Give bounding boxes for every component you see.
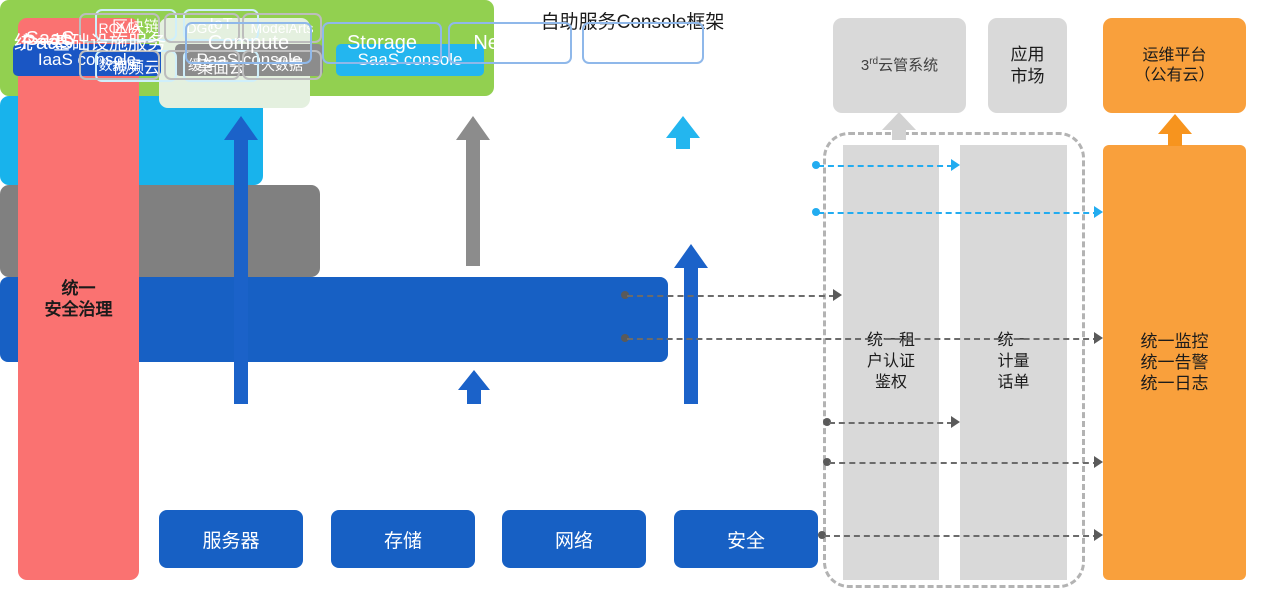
arrowhead-infra-to-ops bbox=[1094, 456, 1103, 468]
ops-panel-line2: 统一告警 bbox=[1141, 352, 1209, 373]
auth-line3: 鉴权 bbox=[867, 373, 915, 394]
arrowhead-resource-to-ops bbox=[1094, 529, 1103, 541]
ops-panel-line3: 统一日志 bbox=[1141, 373, 1209, 394]
dashed-link-saas-to-auth bbox=[818, 165, 953, 167]
unified-ops-panel: 统一监控 统一告警 统一日志 bbox=[1103, 145, 1246, 580]
architecture-diagram: 统一 安全治理 API网关 自助服务Console框架 IaaS console… bbox=[0, 0, 1265, 605]
resource-box-server[interactable]: 服务器 bbox=[159, 510, 303, 568]
infrastructure-label: 统一基础设施服务 bbox=[14, 28, 166, 55]
metering-line3: 话单 bbox=[997, 373, 1029, 394]
dashed-link-paas-to-ops bbox=[627, 338, 1099, 340]
third-cloud-suffix: 云管系统 bbox=[878, 57, 938, 74]
resource-box-storage[interactable]: 存储 bbox=[331, 510, 475, 568]
arrowhead-saas-to-auth bbox=[951, 159, 960, 171]
resource-box-network[interactable]: 网络 bbox=[502, 510, 646, 568]
infra-chip-compute[interactable]: Compute bbox=[185, 22, 312, 64]
infra-chip-storage[interactable]: Storage bbox=[322, 22, 442, 64]
arrow-infra-to-paas bbox=[458, 370, 490, 404]
dashed-link-saas-to-ops bbox=[818, 212, 1099, 214]
dashed-link-infra-to-auth bbox=[829, 422, 953, 424]
ops-platform-line1: 运维平台 bbox=[1134, 46, 1214, 66]
arrow-saas-to-console bbox=[666, 116, 700, 149]
ops-panel-line1: 统一监控 bbox=[1141, 331, 1209, 352]
third-cloud-text: 3rd云管系统 bbox=[861, 56, 938, 76]
arrowhead-paas-to-ops bbox=[1094, 332, 1103, 344]
arrowhead-saas-to-ops bbox=[1094, 206, 1103, 218]
ops-platform-public-cloud-box: 运维平台 （公有云） bbox=[1103, 18, 1246, 113]
infra-chip-cce[interactable]: CCE bbox=[582, 22, 704, 64]
resource-box-security[interactable]: 安全 bbox=[674, 510, 818, 568]
dashed-link-infra-to-ops bbox=[829, 462, 1099, 464]
third-cloud-prefix: 3 bbox=[861, 57, 869, 74]
arrowhead-paas-to-auth bbox=[833, 289, 842, 301]
security-governance-line2: 安全治理 bbox=[45, 299, 113, 320]
third-cloud-sup: rd bbox=[869, 56, 878, 67]
unified-tenant-auth-column: 统一租 户认证 鉴权 bbox=[843, 145, 939, 580]
unified-metering-billing-column: 统一 计量 话单 bbox=[960, 145, 1067, 580]
security-governance-panel: 统一 安全治理 bbox=[18, 18, 139, 580]
metering-line2: 计量 bbox=[997, 352, 1029, 373]
arrow-infra-to-api-gateway bbox=[224, 116, 258, 404]
dashed-link-resource-to-ops bbox=[824, 535, 1099, 537]
app-market-line2: 市场 bbox=[1011, 66, 1045, 87]
arrow-to-ops-platform bbox=[1158, 114, 1192, 146]
infra-chip-network[interactable]: Network bbox=[448, 22, 572, 64]
arrowhead-infra-to-auth bbox=[951, 416, 960, 428]
auth-line2: 户认证 bbox=[867, 352, 915, 373]
arrow-to-third-cloud bbox=[882, 112, 916, 140]
arrow-paas-to-console bbox=[456, 116, 490, 266]
security-governance-line1: 统一 bbox=[45, 278, 113, 299]
app-market-line1: 应用 bbox=[1011, 44, 1045, 65]
auth-line1: 统一租 bbox=[867, 331, 915, 352]
metering-line1: 统一 bbox=[997, 331, 1029, 352]
ops-platform-line2: （公有云） bbox=[1134, 66, 1214, 86]
dashed-link-paas-to-auth bbox=[627, 295, 835, 297]
third-party-cloud-management-box: 3rd云管系统 bbox=[833, 18, 966, 113]
arrow-infra-to-saas bbox=[674, 244, 708, 404]
app-market-box: 应用 市场 bbox=[988, 18, 1067, 113]
